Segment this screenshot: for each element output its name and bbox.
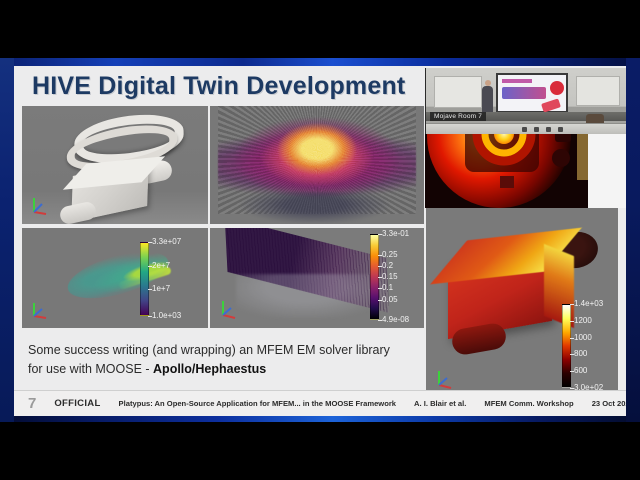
control-icon[interactable] [546,127,551,132]
page-number: 7 [28,395,36,412]
colorbar-tick: 1e+7 [152,285,170,293]
current-density-colorbar: 3.3e+07 2e+7 1e+7 1.0e+03 J(ωt = 0) (Am⁻… [140,242,219,316]
display-content-bar [502,79,532,83]
colorbar-tick: 0.05 [382,296,398,304]
control-icon[interactable] [558,127,563,132]
footer-venue: MFEM Comm. Workshop [484,399,573,408]
video-control-bar[interactable] [426,123,626,134]
classification-marking: OFFICIAL [54,398,100,409]
frame-band-right [626,58,640,422]
colorbar-tick: 4.9e-08 [382,316,409,324]
footer-authors: A. I. Blair et al. [414,399,466,408]
colorbar-tick: 800 [574,350,587,358]
axes-triad-icon [30,294,56,320]
body-line-2-emphasis: Apollo/Hephaestus [153,362,266,376]
whiteboard-secondary [576,76,620,106]
video-frame: HIVE Digital Twin Development [0,0,640,480]
colorbar-tick: 0.15 [382,273,398,281]
axes-triad-icon [218,294,244,320]
colorbar-tick: 3.3e-01 [382,230,409,238]
colorbar-tick: 3.3e+07 [152,238,181,246]
presentation-display [496,73,568,113]
field-glyph-lower-cloud [240,192,390,224]
display-content-circle [550,81,564,95]
body-line-2: for use with MOOSE - Apollo/Hephaestus [28,360,448,379]
magnetic-field-glyph-panel [210,106,424,224]
colorbar-gradient-viridis [140,242,149,316]
colorbar-tick: 2e+7 [152,262,170,270]
colorbar-tick: 1.4e+03 [574,300,603,308]
colorbar-tick: 0.1 [382,284,393,292]
cylinder-shape-lower [59,200,98,224]
axes-triad-icon [30,190,56,216]
display-content-block [502,87,546,99]
slide-footer: 7 OFFICIAL Platypus: An Open-Source Appl… [14,390,626,416]
coil-and-block-geometry-panel [22,106,208,224]
page-title: HIVE Digital Twin Development [32,72,405,101]
slide-body-text: Some success writing (and wrapping) an M… [28,341,448,379]
room-name-label: Mojave Room 7 [430,112,486,121]
colorbar-ticks: 3.3e+07 2e+7 1e+7 1.0e+03 [152,242,208,316]
colorbar-tick: 0.25 [382,251,398,259]
body-line-1: Some success writing (and wrapping) an M… [28,341,448,360]
colorbar-tick: 1000 [574,334,592,342]
frame-band-left [0,58,14,422]
colorbar-tick: 0.2 [382,262,393,270]
display-content-shape [541,98,561,112]
footer-date: 23 Oct 2024 [592,399,626,408]
whiteboard [434,76,482,108]
colorbar-tick: 1200 [574,317,592,325]
temperature-colorbar: 1.4e+03 1200 1000 800 600 3.0e+02 T (K) [562,304,626,388]
point-cloud-haze [236,274,386,318]
webcam-pip[interactable]: Mojave Room 7 [425,68,626,134]
presenter-figure [482,86,493,113]
control-icon[interactable] [534,127,539,132]
colorbar-ticks: 1.4e+03 1200 1000 800 600 3.0e+02 [574,304,626,388]
colorbar-gradient-hot [562,304,571,388]
footer-paper-title: Platypus: An Open-Source Application for… [119,399,396,408]
control-icon[interactable] [522,127,527,132]
colorbar-tick: 1.0e+03 [152,312,181,320]
colorbar-tick: 600 [574,367,587,375]
body-line-2-prefix: for use with MOOSE - [28,362,153,376]
